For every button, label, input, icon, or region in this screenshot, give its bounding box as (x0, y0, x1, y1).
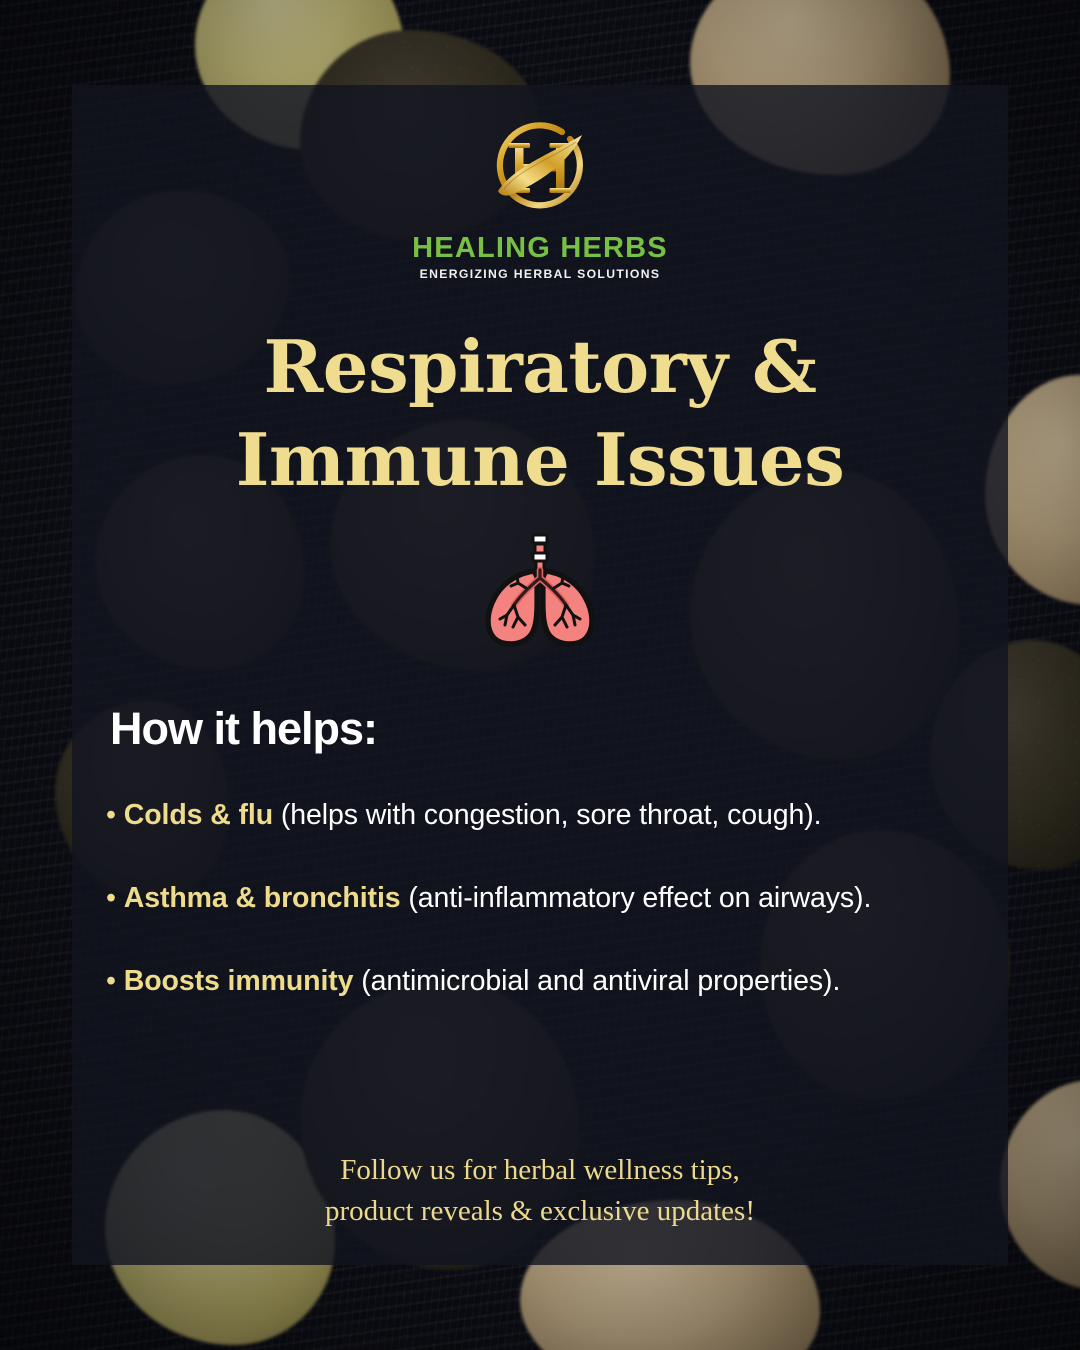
page-title: Respiratory & Immune Issues (72, 321, 1008, 507)
list-item: • Boosts immunity (antimicrobial and ant… (106, 961, 972, 1002)
footer-cta: Follow us for herbal wellness tips, prod… (72, 1150, 1008, 1232)
poster-content: HEALING HERBS ENERGIZING HERBAL SOLUTION… (72, 85, 1008, 1265)
bullet-detail: (anti-inflammatory effect on airways). (408, 882, 871, 914)
bullet-term: Asthma & bronchitis (124, 882, 401, 914)
brand-logo[interactable]: HEALING HERBS ENERGIZING HERBAL SOLUTION… (72, 115, 1008, 280)
footer-line-1: Follow us for herbal wellness tips, (72, 1150, 1008, 1191)
footer-line-2: product reveals & exclusive updates! (72, 1191, 1008, 1232)
section-heading: How it helps: (110, 703, 377, 755)
healing-herbs-monogram-icon (484, 115, 596, 227)
list-item: • Asthma & bronchitis (anti-inflammatory… (106, 878, 972, 919)
hero-icon-wrap (72, 533, 1008, 653)
bullet-marker: • (106, 882, 116, 914)
benefits-list: • Colds & flu (helps with congestion, so… (106, 795, 972, 1002)
page-title-line-2: Immune Issues (72, 414, 1008, 507)
bullet-detail: (helps with congestion, sore throat, cou… (281, 799, 822, 831)
bullet-marker: • (106, 965, 116, 997)
list-item: • Colds & flu (helps with congestion, so… (106, 795, 972, 836)
bullet-detail: (antimicrobial and antiviral properties)… (361, 965, 840, 997)
bullet-term: Colds & flu (124, 799, 273, 831)
lungs-icon (474, 533, 606, 653)
brand-tagline: ENERGIZING HERBAL SOLUTIONS (420, 268, 661, 280)
bullet-marker: • (106, 799, 116, 831)
bullet-term: Boosts immunity (124, 965, 354, 997)
page-title-line-1: Respiratory & (72, 321, 1008, 414)
brand-name: HEALING HERBS (412, 234, 668, 263)
